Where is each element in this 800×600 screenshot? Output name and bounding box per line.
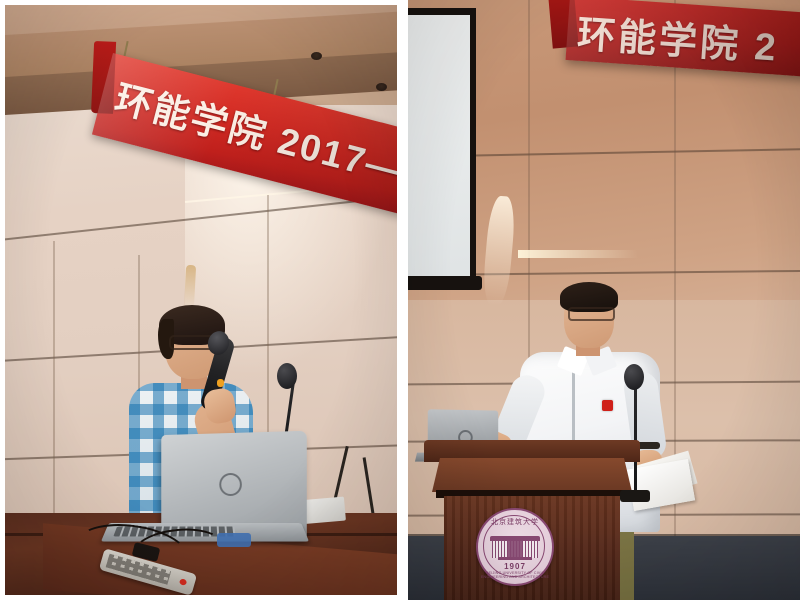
building-steps (498, 557, 532, 560)
lapel-pin-icon (602, 400, 613, 411)
projection-screen-bottom-bar (408, 276, 482, 290)
right-photo: 环能学院 2 (408, 0, 800, 600)
projection-screen (408, 14, 476, 286)
left-photo: 环能学院 2017—2018 学年学 (5, 5, 397, 595)
seal-year: 1907 (478, 562, 552, 571)
remote-power-button (179, 578, 187, 586)
eyeglasses-icon (568, 307, 615, 321)
gooseneck-microphone-head (624, 364, 644, 390)
projection-screen-housing (408, 8, 476, 15)
microphone-indicator (217, 379, 224, 387)
seal-building-icon (490, 536, 540, 560)
seal-english-name: BEIJING UNIVERSITY OF CIVIL ENGINEERING … (478, 571, 552, 579)
wall-glare (518, 250, 638, 258)
lectern-front-slope (432, 458, 632, 492)
gooseneck-microphone-base (620, 490, 650, 502)
laptop-logo-icon (219, 473, 242, 496)
building-center (507, 539, 523, 558)
gooseneck-microphone-head (277, 363, 297, 389)
seal-chinese-name: 北京建筑大学 (478, 517, 552, 527)
ceiling-downlight-icon (311, 52, 322, 60)
gooseneck-microphone-stem (634, 376, 637, 496)
ceiling-downlight-icon (376, 83, 387, 91)
university-seal: 北京建筑大学 1907 BEIJING UNIVERSITY OF CIVIL … (476, 508, 554, 586)
collage-stage: 环能学院 2017—2018 学年学 (0, 0, 800, 600)
